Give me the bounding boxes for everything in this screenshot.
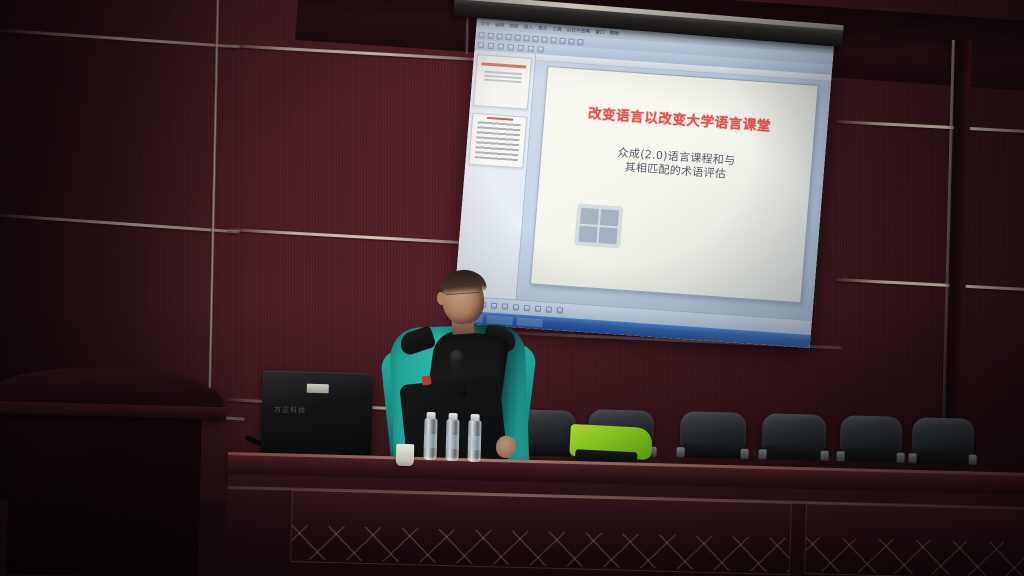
bottle-cap bbox=[427, 412, 436, 419]
thumbnail-title-bar bbox=[481, 62, 526, 68]
lecture-hall-photo: 文件 编辑 视图 插入 格式 工具 幻灯片放映 窗口 帮助 bbox=[0, 0, 1024, 576]
line-color-icon[interactable] bbox=[557, 307, 563, 313]
paste-icon[interactable] bbox=[532, 35, 538, 41]
bottle-label bbox=[424, 434, 437, 448]
slide-thumbnail-2[interactable] bbox=[468, 113, 527, 169]
menu-item-slideshow[interactable]: 幻灯片放映 bbox=[567, 27, 591, 35]
green-bag-on-chair bbox=[569, 424, 653, 460]
menu-item-insert[interactable]: 插入 bbox=[523, 24, 533, 31]
monitor-brand-label: 方正科技 bbox=[274, 405, 306, 416]
slide-editing-canvas[interactable]: 改变语言以改变大学语言课堂 众成(2.0)语言课程和与 其相匹配的术语评估 bbox=[517, 61, 831, 320]
bottle-cap bbox=[449, 413, 458, 420]
menu-item-tools[interactable]: 工具 bbox=[552, 26, 562, 33]
thumbnail-title-bar bbox=[487, 117, 513, 121]
water-bottle-3 bbox=[467, 420, 481, 462]
thumbnail-body-lines bbox=[484, 71, 522, 86]
fill-color-icon[interactable] bbox=[546, 306, 552, 312]
insert-table-icon[interactable] bbox=[559, 37, 565, 43]
chair-3 bbox=[679, 411, 746, 461]
menu-item-format[interactable]: 格式 bbox=[538, 25, 548, 32]
menu-item-view[interactable]: 视图 bbox=[509, 23, 519, 30]
insert-chart-icon[interactable] bbox=[568, 38, 574, 44]
underline-icon[interactable] bbox=[498, 43, 504, 49]
slide-thumbnail-1[interactable] bbox=[473, 54, 532, 110]
current-slide[interactable]: 改变语言以改变大学语言课堂 众成(2.0)语言课程和与 其相匹配的术语评估 bbox=[530, 66, 819, 303]
chair-armrest bbox=[676, 447, 684, 457]
bullets-icon[interactable] bbox=[528, 46, 534, 52]
water-bottle-1 bbox=[423, 418, 437, 460]
table-front-panel-right bbox=[804, 502, 1024, 576]
chair-seat bbox=[913, 449, 971, 464]
wordart-icon[interactable] bbox=[535, 306, 541, 312]
panel-diamond-pattern bbox=[804, 537, 1024, 576]
chair-4 bbox=[761, 413, 826, 463]
menu-item-file[interactable]: 文件 bbox=[480, 21, 490, 28]
water-bottle-2 bbox=[445, 419, 459, 461]
chair-armrest bbox=[968, 455, 976, 465]
align-left-icon[interactable] bbox=[508, 44, 514, 50]
italic-icon[interactable] bbox=[488, 43, 494, 49]
align-center-icon[interactable] bbox=[518, 45, 524, 51]
bottle-label bbox=[468, 436, 481, 450]
lapel-badge bbox=[421, 375, 431, 385]
slide-title: 改变语言以改变大学语言课堂 bbox=[544, 99, 815, 138]
zoom-control-icon[interactable] bbox=[577, 39, 583, 45]
menu-item-help[interactable]: 帮助 bbox=[609, 30, 619, 37]
table-front-panel-left bbox=[290, 490, 792, 575]
presenter-monitor: 方正科技 bbox=[261, 370, 373, 461]
print-icon[interactable] bbox=[505, 34, 511, 40]
font-color-icon[interactable] bbox=[537, 46, 543, 52]
menu-item-edit[interactable]: 编辑 bbox=[495, 22, 505, 29]
seal-watermark-icon bbox=[574, 204, 623, 249]
chair-armrest bbox=[820, 451, 828, 461]
hair bbox=[439, 268, 487, 296]
chair-6 bbox=[911, 417, 974, 467]
chair-armrest bbox=[758, 449, 766, 459]
lectern-body bbox=[6, 412, 201, 576]
chair-armrest bbox=[836, 451, 844, 461]
menu-item-window[interactable]: 窗口 bbox=[595, 29, 605, 36]
chair-5 bbox=[839, 415, 902, 465]
new-file-icon[interactable] bbox=[478, 32, 484, 38]
redo-icon[interactable] bbox=[550, 37, 556, 43]
chair-armrest bbox=[908, 453, 916, 463]
bottle-cap bbox=[471, 414, 480, 421]
slide-subtitle: 众成(2.0)语言课程和与 其相匹配的术语评估 bbox=[540, 140, 812, 188]
chair-armrest bbox=[896, 453, 904, 463]
bottle-label bbox=[446, 435, 459, 449]
chair-seat bbox=[841, 447, 899, 462]
copy-icon[interactable] bbox=[523, 35, 529, 41]
thumbnail-body-lines bbox=[475, 120, 521, 161]
save-icon[interactable] bbox=[496, 33, 502, 39]
bold-icon[interactable] bbox=[478, 42, 484, 48]
open-file-icon[interactable] bbox=[487, 32, 493, 38]
chair-seat bbox=[681, 443, 743, 459]
cut-icon[interactable] bbox=[514, 34, 520, 40]
paper-cup bbox=[396, 444, 415, 466]
monitor-sticker bbox=[307, 384, 329, 394]
microphone-head-icon bbox=[450, 350, 464, 364]
chair-seat bbox=[763, 445, 823, 460]
undo-icon[interactable] bbox=[541, 36, 547, 42]
chair-armrest bbox=[740, 449, 748, 459]
